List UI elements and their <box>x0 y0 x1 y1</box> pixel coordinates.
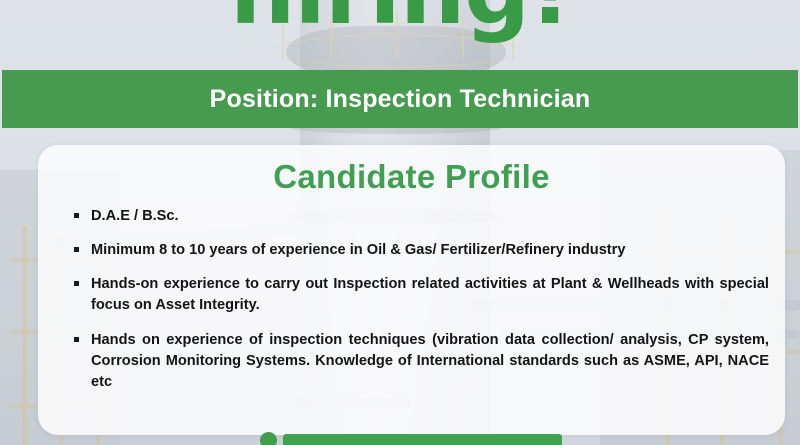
position-banner: Position: Inspection Technician <box>2 70 798 128</box>
apply-green-bar <box>283 434 562 445</box>
requirement-item: D.A.E / B.Sc. <box>70 206 769 227</box>
apply-bullet-dot <box>260 432 277 445</box>
candidate-profile-card: Candidate Profile D.A.E / B.Sc. Minimum … <box>38 145 785 435</box>
hiring-poster: hiring! Position: Inspection Technician … <box>0 0 800 445</box>
apply-row <box>0 432 800 445</box>
headline-hiring: hiring! <box>0 0 800 38</box>
requirement-item: Minimum 8 to 10 years of experience in O… <box>70 240 769 261</box>
candidate-profile-title: Candidate Profile <box>38 158 785 196</box>
position-title: Position: Inspection Technician <box>210 85 591 114</box>
requirement-item: Hands-on experience to carry out Inspect… <box>70 274 769 316</box>
requirement-item: Hands on experience of inspection techni… <box>70 330 769 393</box>
requirements-list: D.A.E / B.Sc. Minimum 8 to 10 years of e… <box>38 206 785 393</box>
